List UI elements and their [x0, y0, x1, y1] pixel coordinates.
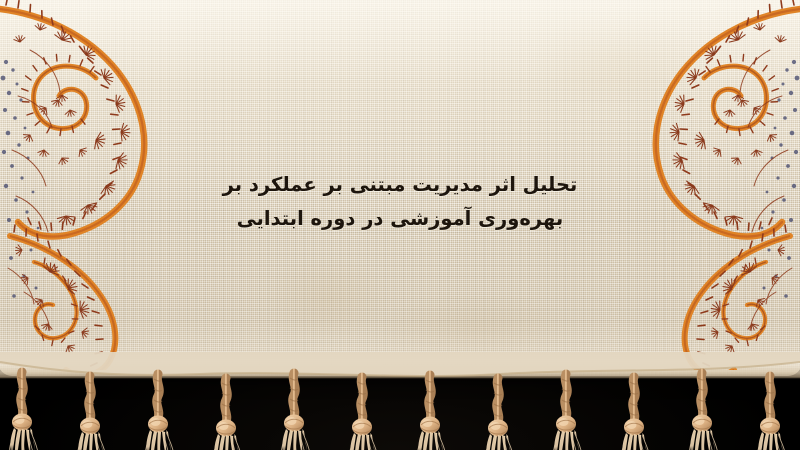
presentation-slide: تحلیل اثر مدیریت مبتنی بر عملکرد بر بهره…: [0, 0, 800, 450]
tassel-fringe: [0, 352, 800, 450]
title-line-1: تحلیل اثر مدیریت مبتنی بر عملکرد بر: [150, 168, 650, 202]
hem-arch: [0, 352, 800, 376]
tassels: [9, 372, 786, 450]
slide-title: تحلیل اثر مدیریت مبتنی بر عملکرد بر بهره…: [0, 168, 800, 236]
title-line-2: بهره‌وری آموزشی در دوره ابتدایی: [150, 202, 650, 236]
